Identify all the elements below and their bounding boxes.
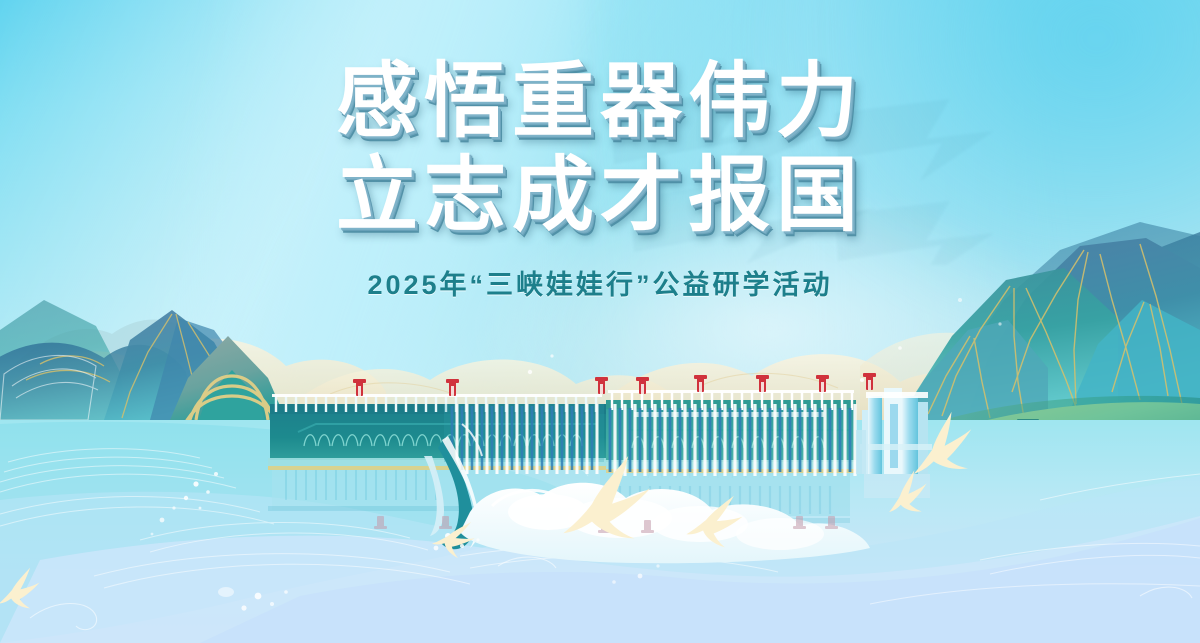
banner-subtitle: 2025年“三峡娃娃行”公益研学活动 xyxy=(0,263,1200,302)
banner-headline-block: 感悟重器伟力 立志成才报国 2025年“三峡娃娃行”公益研学活动 xyxy=(0,62,1200,302)
title-line-1: 感悟重器伟力 xyxy=(0,62,1200,142)
title-line-2: 立志成才报国 xyxy=(0,156,1200,236)
banner-stage: 感悟重器伟力 立志成才报国 2025年“三峡娃娃行”公益研学活动 xyxy=(0,0,1200,643)
